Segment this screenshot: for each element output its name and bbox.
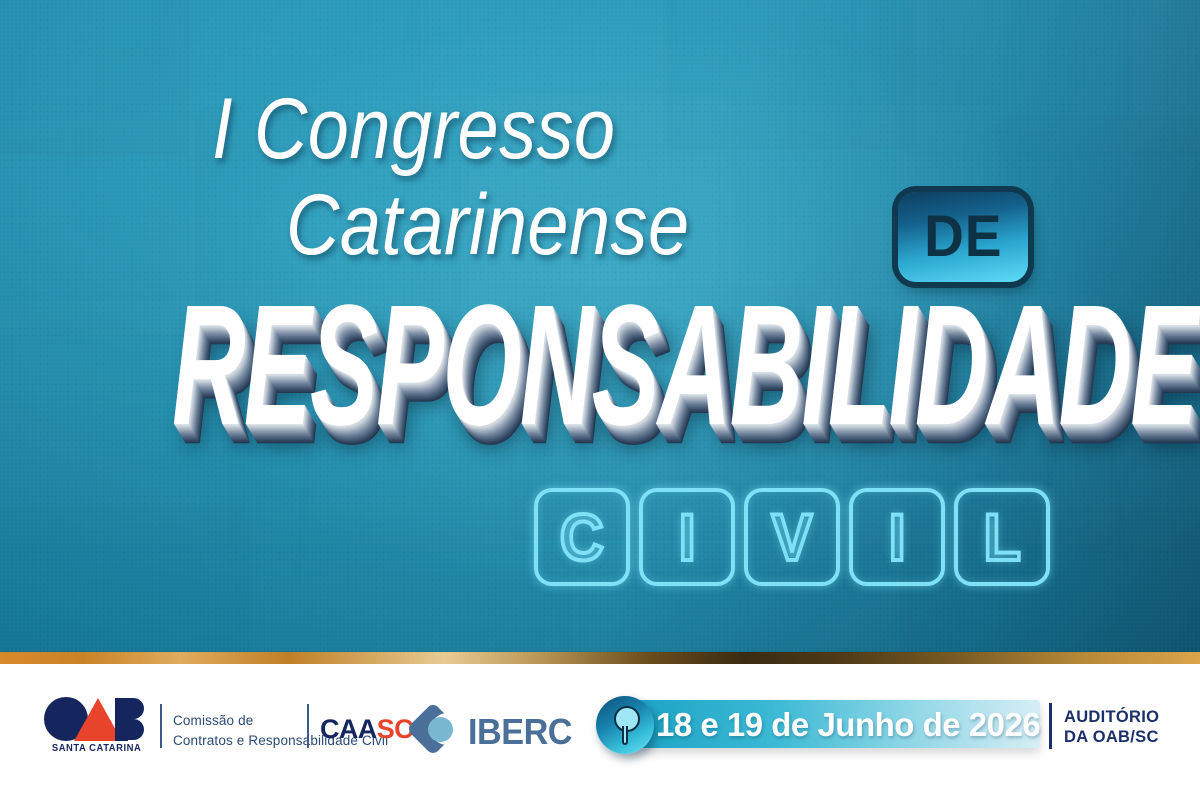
- event-date: 18 e 19 de Junho de 2026: [656, 706, 1040, 744]
- civil-letter-cell: C: [534, 488, 630, 586]
- title-block: I Congresso Catarinense DE RESPONSABILID…: [0, 0, 1200, 656]
- iberc-wordmark: IBERC: [468, 711, 572, 753]
- caasc-label-caa: CAA: [320, 714, 377, 744]
- hero-background: I Congresso Catarinense DE RESPONSABILID…: [0, 0, 1200, 656]
- civil-letter: I: [889, 504, 906, 570]
- title-line-2: Catarinense: [286, 182, 690, 268]
- venue-name: AUDITÓRIO DA OAB/SC: [1064, 708, 1159, 748]
- civil-letter-cell: I: [849, 488, 945, 586]
- footer-divider: [307, 704, 309, 748]
- caasc-logo: CAASC: [320, 714, 413, 745]
- event-poster: I Congresso Catarinense DE RESPONSABILID…: [0, 0, 1200, 789]
- venue-divider: [1049, 703, 1052, 749]
- civil-letter: L: [983, 504, 1020, 570]
- de-badge-label: DE: [924, 208, 1002, 266]
- footer-divider: [160, 704, 162, 748]
- civil-letter-cell: I: [639, 488, 735, 586]
- location-pin-stem-icon: [622, 726, 628, 745]
- iberc-mark-icon: [408, 704, 458, 754]
- venue-line-2: DA OAB/SC: [1064, 728, 1159, 748]
- iberc-logo: IBERC: [408, 700, 578, 754]
- civil-neon-word: C I V I L: [534, 488, 1050, 586]
- venue-line-1: AUDITÓRIO: [1064, 708, 1159, 728]
- oab-logo: SANTA CATARINA: [44, 697, 148, 755]
- civil-letter: V: [772, 504, 813, 570]
- civil-letter: C: [560, 504, 604, 570]
- title-line-1: I Congresso: [212, 86, 616, 172]
- gold-divider-bar: [0, 652, 1200, 664]
- civil-letter-cell: V: [744, 488, 840, 586]
- oab-letter-b-bowl-icon: [122, 698, 144, 719]
- oab-letter-b-bowl-icon: [122, 719, 144, 740]
- civil-letter-cell: L: [954, 488, 1050, 586]
- iberc-dot-icon: [428, 717, 453, 742]
- main-headline-responsabilidade: RESPONSABILIDADE: [172, 280, 726, 452]
- oab-state-label: SANTA CATARINA: [52, 743, 142, 754]
- civil-letter: I: [679, 504, 696, 570]
- location-pin-badge: [596, 696, 654, 754]
